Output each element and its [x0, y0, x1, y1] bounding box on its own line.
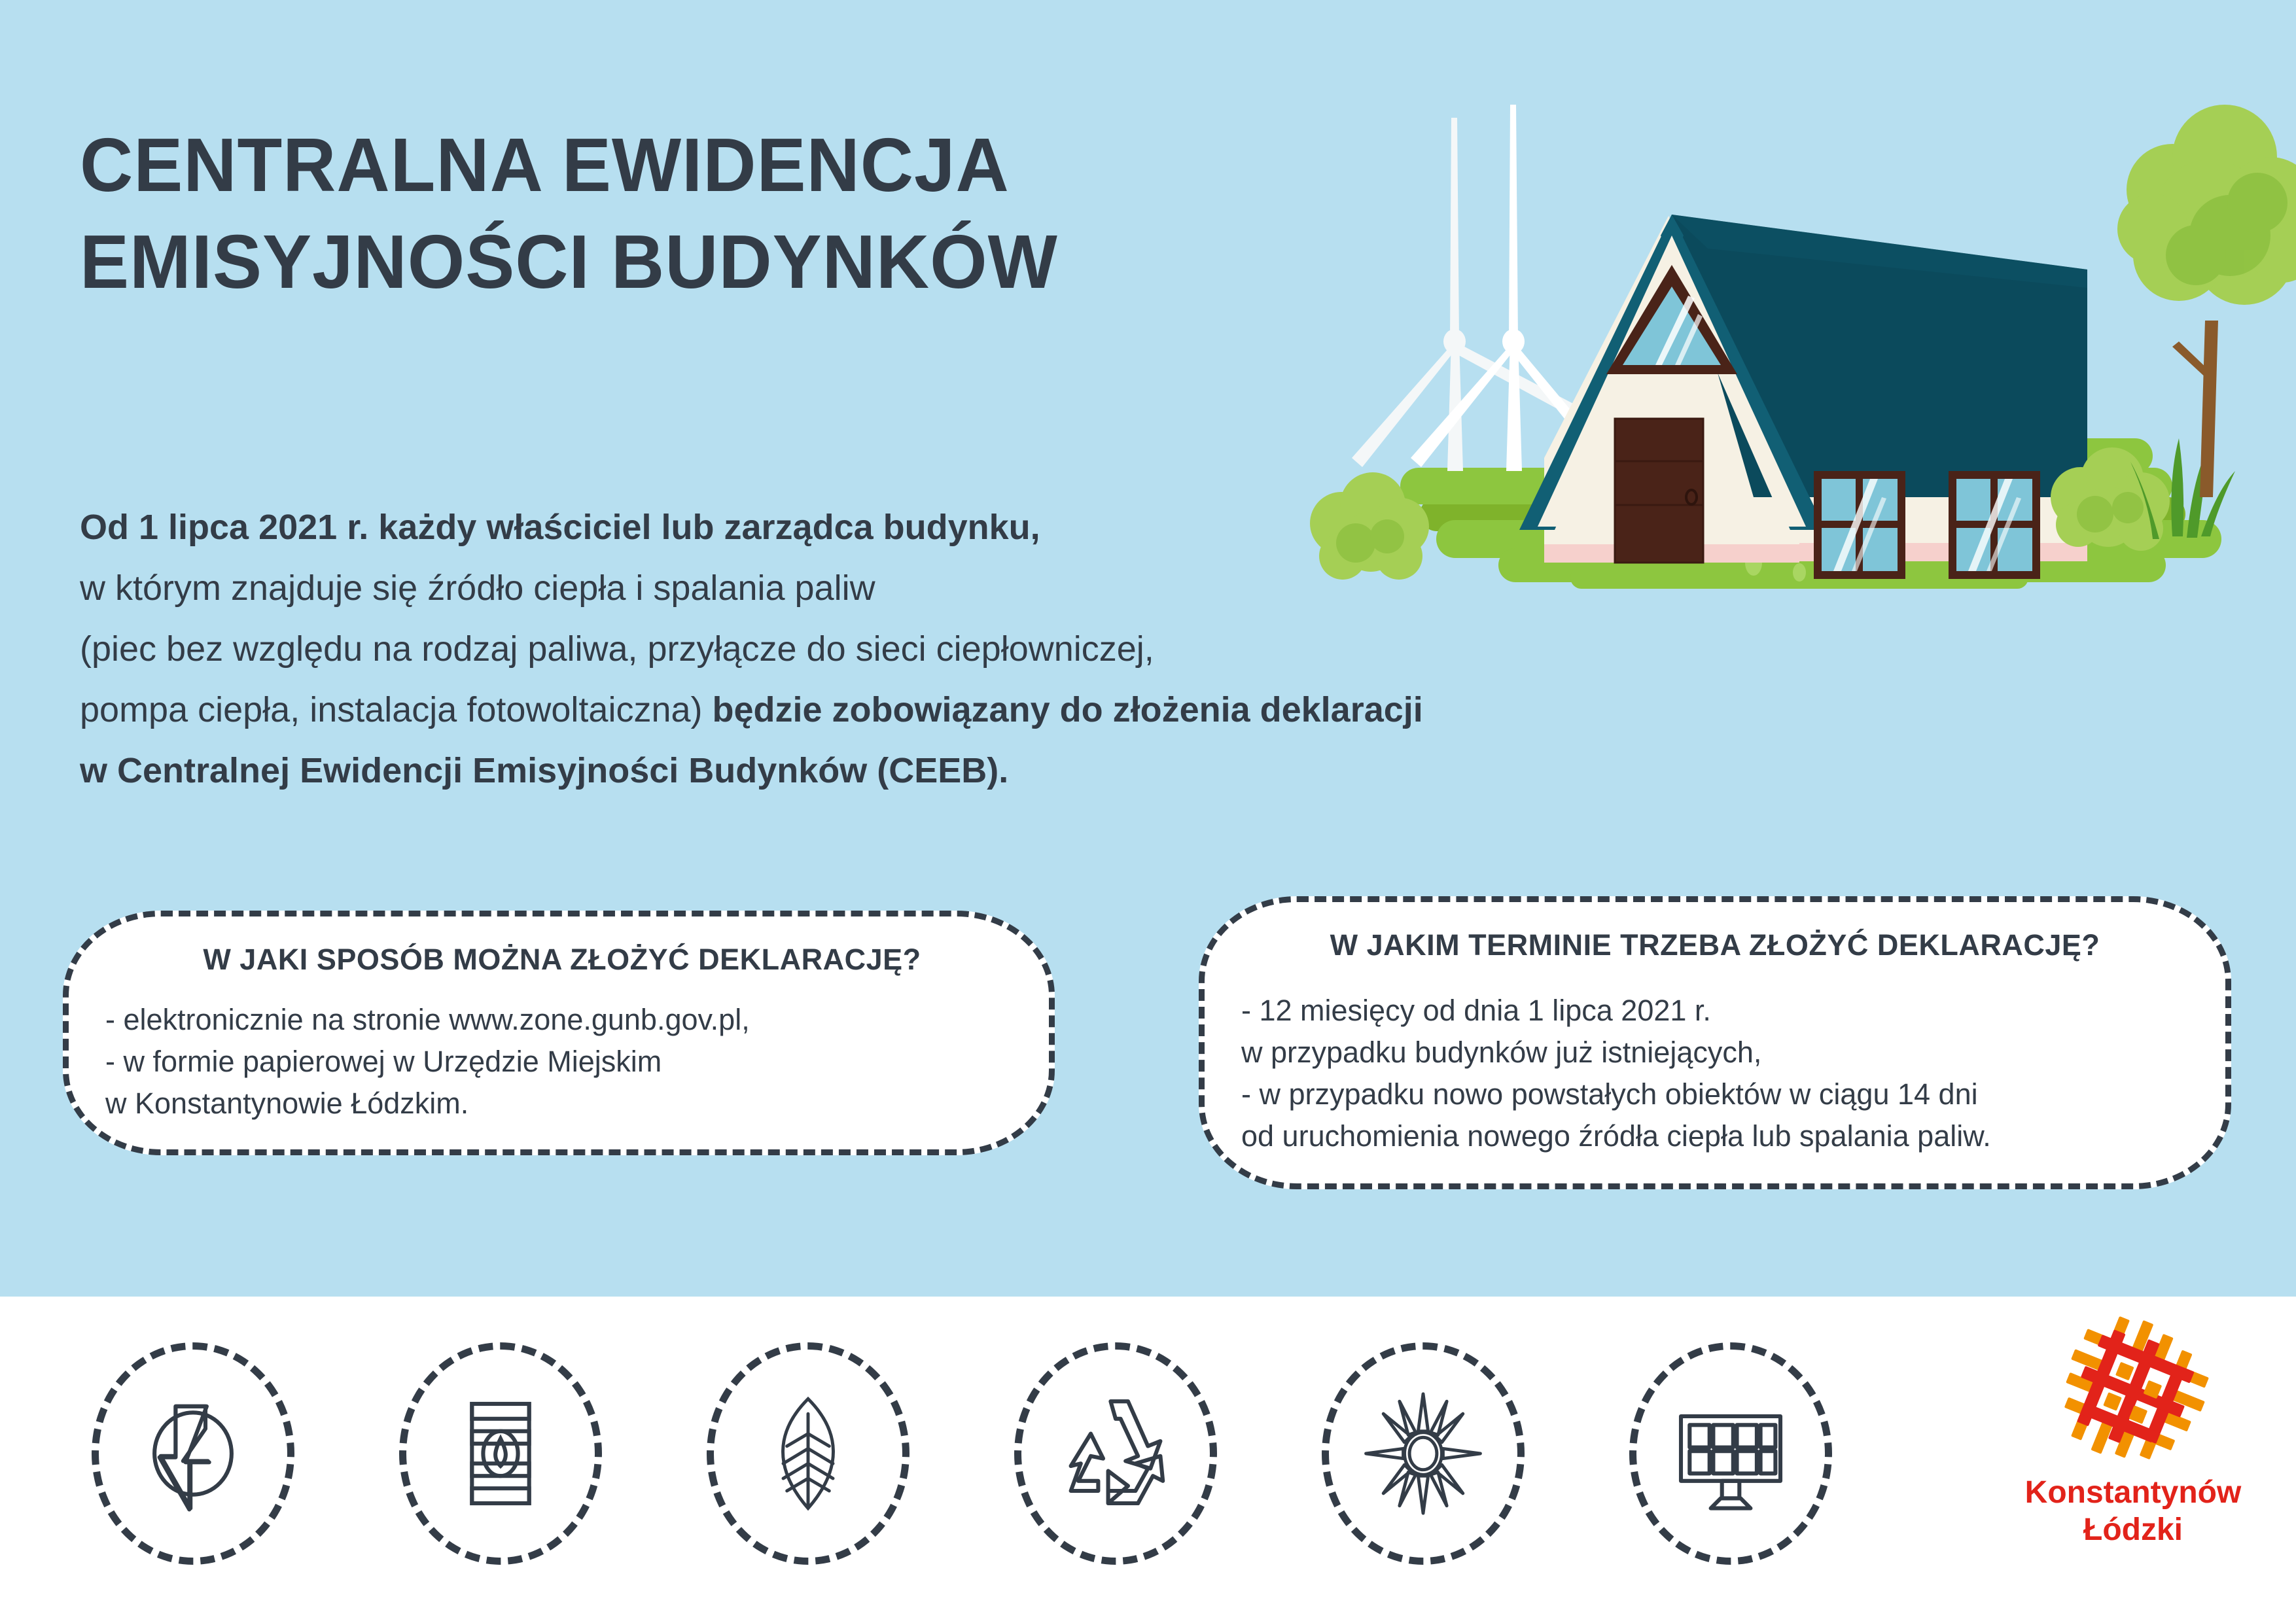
callout-deadline-body: - 12 miesięcy od dnia 1 lipca 2021 r. w …: [1241, 990, 2189, 1157]
callout-how-line-1: - elektronicznie na stronie www.zone.gun…: [105, 999, 1012, 1041]
callout-how-body: - elektronicznie na stronie www.zone.gun…: [105, 999, 1012, 1125]
icon-cell-solar-panel: [1629, 1342, 1832, 1565]
body-line-3: (piec bez względu na rodzaj paliwa, przy…: [80, 619, 1879, 680]
icon-cell-sun: [1322, 1342, 1525, 1565]
solar-panel-icon: [1669, 1391, 1793, 1516]
title-line-2: EMISYJNOŚCI BUDYNKÓW: [80, 219, 1058, 304]
callout-how-inner: W JAKI SPOSÓB MOŻNA ZŁOŻYĆ DEKLARACJĘ? -…: [69, 916, 1049, 1149]
callout-deadline-line-4: od uruchomienia nowego źródła ciepła lub…: [1241, 1115, 2189, 1157]
icon-cell-lightning: [92, 1342, 294, 1565]
energy-icons-strip: [0, 1297, 1976, 1623]
poster-root: CENTRALNA EWIDENCJA EMISYJNOŚCI BUDYNKÓW…: [0, 0, 2296, 1623]
sun-icon: [1361, 1391, 1485, 1516]
title-line-1: CENTRALNA EWIDENCJA: [80, 122, 1010, 207]
municipality-logo: Konstantynów Łódzki: [1996, 1312, 2270, 1607]
oil-barrel-icon: [438, 1391, 563, 1516]
callout-deadline-line-3: - w przypadku nowo powstałych obiektów w…: [1241, 1073, 2189, 1115]
callout-how-line-2: - w formie papierowej w Urzędzie Miejski…: [105, 1041, 1012, 1083]
icon-cell-recycle: [1014, 1342, 1217, 1565]
page-title: CENTRALNA EWIDENCJA EMISYJNOŚCI BUDYNKÓW: [80, 116, 1349, 311]
callout-deadline-inner: W JAKIM TERMINIE TRZEBA ZŁOŻYĆ DEKLARACJ…: [1205, 902, 2225, 1183]
callout-deadline-title: W JAKIM TERMINIE TRZEBA ZŁOŻYĆ DEKLARACJ…: [1241, 928, 2189, 962]
konstantynow-weave-icon: [2055, 1312, 2212, 1469]
body-line-5: w Centralnej Ewidencji Emisyjności Budyn…: [80, 741, 1879, 801]
icon-cell-oil-barrel: [399, 1342, 602, 1565]
body-line-1: Od 1 lipca 2021 r. każdy właściciel lub …: [80, 497, 1879, 558]
recycle-icon: [1053, 1391, 1178, 1516]
callout-deadline-line-2: w przypadku budynków już istniejących,: [1241, 1032, 2189, 1073]
logo-name-line-2: Łódzki: [1996, 1512, 2270, 1549]
callout-how-line-3: w Konstantynowie Łódzkim.: [105, 1083, 1012, 1125]
callout-how-to-submit: W JAKI SPOSÓB MOŻNA ZŁOŻYĆ DEKLARACJĘ? -…: [63, 911, 1055, 1155]
leaf-icon: [746, 1391, 870, 1516]
callout-deadline-line-1: - 12 miesięcy od dnia 1 lipca 2021 r.: [1241, 990, 2189, 1032]
icon-cell-leaf: [707, 1342, 910, 1565]
logo-wordmark: Konstantynów Łódzki: [1996, 1475, 2270, 1548]
body-line-2: w którym znajduje się źródło ciepła i sp…: [80, 558, 1879, 619]
body-copy: Od 1 lipca 2021 r. każdy właściciel lub …: [80, 497, 1879, 801]
lightning-bolt-icon: [131, 1391, 255, 1516]
body-line-4: pompa ciepła, instalacja fotowoltaiczna)…: [80, 680, 1879, 741]
callout-deadline: W JAKIM TERMINIE TRZEBA ZŁOŻYĆ DEKLARACJ…: [1199, 896, 2231, 1189]
logo-name-line-1: Konstantynów: [1996, 1475, 2270, 1512]
callout-how-title: W JAKI SPOSÓB MOŻNA ZŁOŻYĆ DEKLARACJĘ?: [105, 943, 1012, 977]
